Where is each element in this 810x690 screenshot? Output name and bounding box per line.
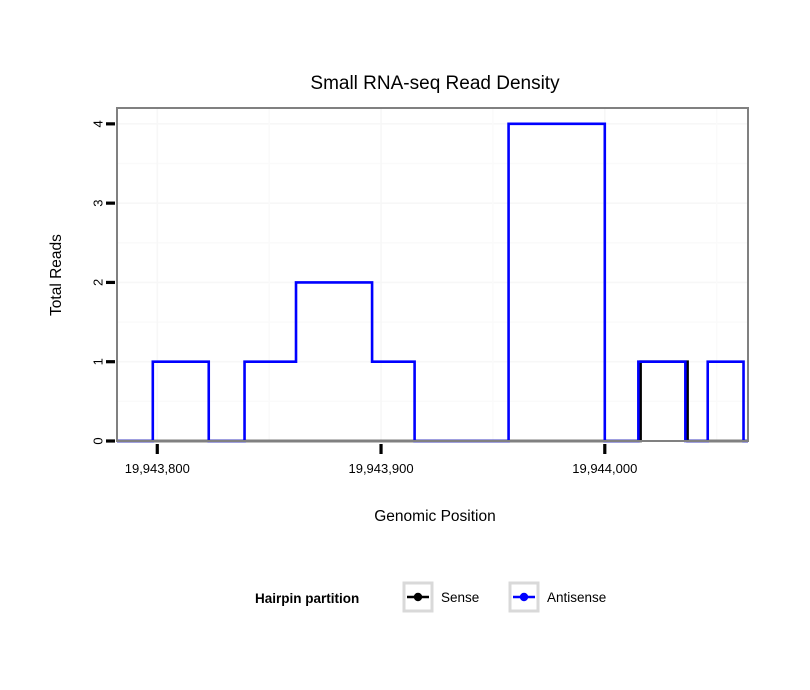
- y-axis-title: Total Reads: [48, 234, 65, 316]
- y-tick-label: 1: [91, 358, 106, 365]
- legend-item-label: Antisense: [547, 590, 606, 605]
- x-tick-label: 19,944,000: [572, 461, 637, 476]
- chart-container: Small RNA-seq Read Density 01234 19,943,…: [0, 0, 810, 690]
- chart-title: Small RNA-seq Read Density: [310, 73, 560, 94]
- legend-item-label: Sense: [441, 590, 479, 605]
- legend-key-point: [414, 593, 422, 601]
- y-tick-label: 3: [91, 200, 106, 207]
- x-tick-label: 19,943,800: [125, 461, 190, 476]
- legend-key-point: [520, 593, 528, 601]
- y-tick-label: 4: [91, 120, 106, 127]
- panel-background: [117, 108, 748, 441]
- y-tick-label: 0: [91, 437, 106, 444]
- read-density-plot: Small RNA-seq Read Density 01234 19,943,…: [0, 0, 810, 690]
- legend-title: Hairpin partition: [255, 591, 359, 606]
- y-tick-label: 2: [91, 279, 106, 286]
- x-tick-label: 19,943,900: [348, 461, 413, 476]
- x-axis-title: Genomic Position: [374, 508, 495, 525]
